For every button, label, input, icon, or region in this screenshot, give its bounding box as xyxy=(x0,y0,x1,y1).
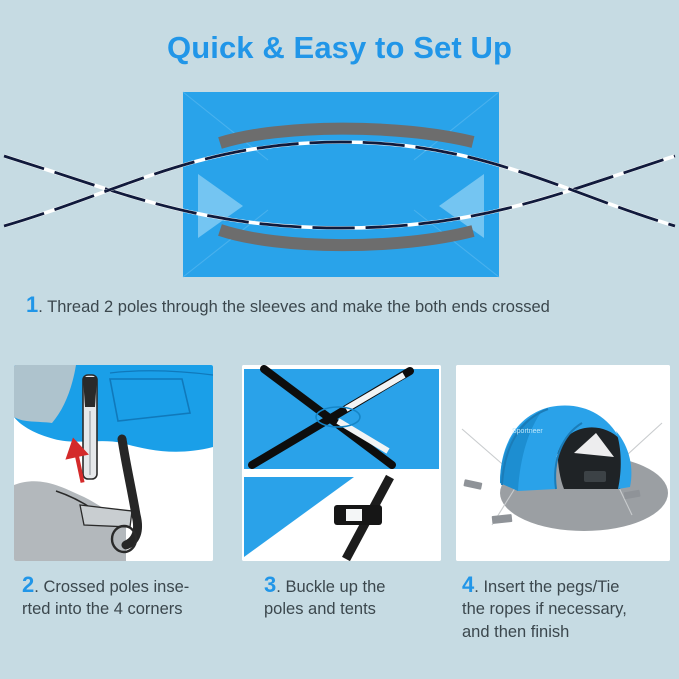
step-3-line-1: 3. Buckle up the xyxy=(264,574,454,598)
setup-instructions-infographic: Quick & Easy to Set Up xyxy=(0,0,679,679)
step-3-text-line-2: poles and tents xyxy=(264,598,454,620)
step-2-caption: 2. Crossed poles inse- rted into the 4 c… xyxy=(22,574,237,621)
pole-tip-2 xyxy=(83,375,97,479)
step-2-number: 2 xyxy=(22,572,34,597)
step-3-image xyxy=(242,365,441,561)
step-2-text-line-1: Crossed poles inse- xyxy=(43,578,189,596)
step-4-line-1: 4. Insert the pegs/Tie xyxy=(462,574,672,598)
step-3-separator: . xyxy=(276,578,281,596)
step-4-caption: 4. Insert the pegs/Tie the ropes if nece… xyxy=(462,574,672,643)
hero-diagram-svg xyxy=(0,80,679,285)
step-2-line-1: 2. Crossed poles inse- xyxy=(22,574,237,598)
step-4-number: 4 xyxy=(462,572,474,597)
step-1-caption: 1. Thread 2 poles through the sleeves an… xyxy=(26,294,666,317)
step-4-text-line-1: Insert the pegs/Tie xyxy=(483,578,619,596)
step-3-number: 3 xyxy=(264,572,276,597)
tent-brand-label: Sportneer xyxy=(512,428,543,435)
step-1-separator: . xyxy=(38,298,43,316)
panel-3-top-subimage xyxy=(244,369,439,469)
step-2-image xyxy=(14,365,213,561)
finished-tent-illustration: Sportneer xyxy=(456,365,670,561)
step-4-image: Sportneer xyxy=(456,365,670,561)
pole-into-corner-illustration xyxy=(14,365,213,561)
step-4-text-line-3: and then finish xyxy=(462,621,672,643)
step-4-separator: . xyxy=(474,578,479,596)
step-4-text-line-2: the ropes if necessary, xyxy=(462,598,672,620)
step-1-text: Thread 2 poles through the sleeves and m… xyxy=(47,298,550,316)
step-3-text-line-1: Buckle up the xyxy=(285,578,385,596)
step-2-separator: . xyxy=(34,578,39,596)
buckle-illustration xyxy=(242,365,441,561)
buckle-slot-3 xyxy=(346,509,362,521)
page-title: Quick & Easy to Set Up xyxy=(0,30,679,66)
panel-3-bottom-subimage xyxy=(244,477,439,559)
step-1-number: 1 xyxy=(26,292,38,317)
step-2-text-line-2: rted into the 4 corners xyxy=(22,598,237,620)
step-3-caption: 3. Buckle up the poles and tents xyxy=(264,574,454,621)
hero-diagram xyxy=(0,80,679,285)
tent-interior-pocket-4 xyxy=(584,471,606,482)
